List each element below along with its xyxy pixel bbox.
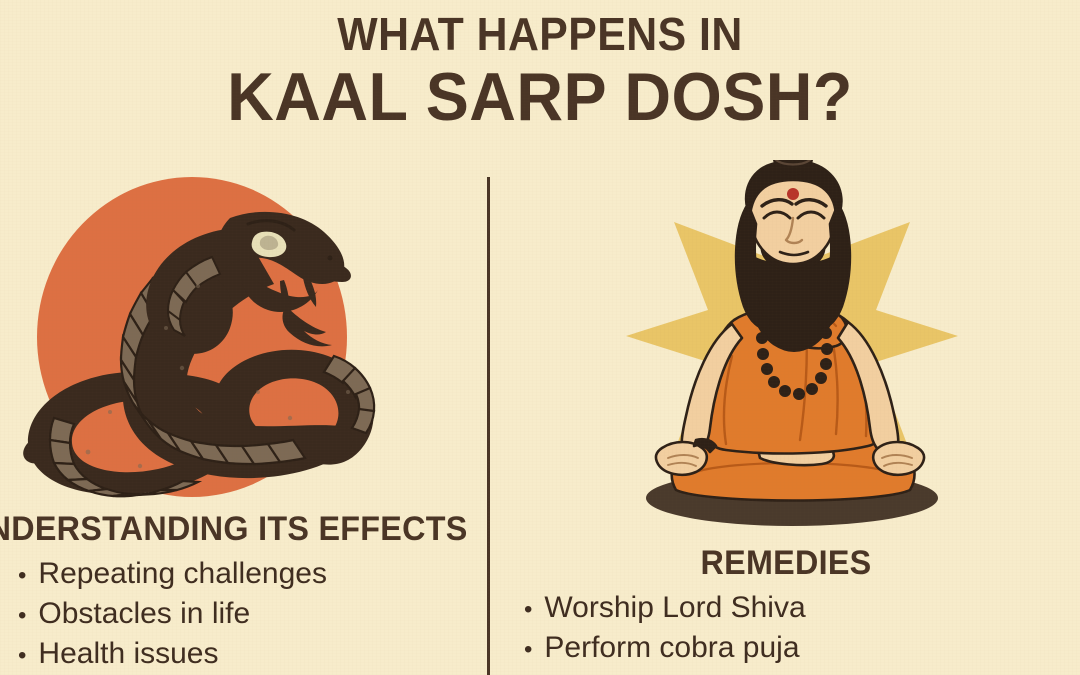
cobra-snake-illustration (0, 160, 410, 500)
remedies-heading: REMEDIES (507, 544, 1066, 583)
sage-bindi (787, 188, 799, 200)
list-item: • Repeating challenges (18, 555, 480, 595)
page-title: WHAT HAPPENS IN KAAL SARP DOSH? (0, 8, 1080, 134)
sage-right-hand (873, 442, 924, 475)
bullet-icon: • (524, 591, 532, 629)
sage-left-hand (656, 442, 707, 475)
list-item-label: Repeating challenges (38, 555, 327, 593)
right-panel: REMEDIES • Worship Lord Shiva • Perform … (492, 160, 1080, 669)
list-item: • Obstacles in life (18, 595, 480, 635)
list-item: • Health issues (18, 635, 480, 675)
bullet-icon: • (18, 557, 26, 595)
bullet-icon: • (524, 631, 532, 669)
list-item: • Worship Lord Shiva (524, 589, 1080, 629)
bullet-icon: • (18, 637, 26, 675)
remedies-list: • Worship Lord Shiva • Perform cobra puj… (524, 589, 1080, 669)
title-line-1: WHAT HAPPENS IN (38, 8, 1042, 60)
left-panel: UNDERSTANDING ITS EFFECTS • Repeating ch… (0, 160, 480, 675)
meditating-sage-illustration (622, 160, 962, 540)
effects-heading: UNDERSTANDING ITS EFFECTS (0, 510, 454, 549)
title-line-2: KAAL SARP DOSH? (27, 60, 1053, 134)
infographic-poster: WHAT HAPPENS IN KAAL SARP DOSH? (0, 0, 1080, 675)
effects-list: • Repeating challenges • Obstacles in li… (18, 555, 480, 675)
bullet-icon: • (18, 597, 26, 635)
vertical-divider (487, 177, 490, 675)
list-item-label: Health issues (38, 635, 218, 673)
list-item-label: Worship Lord Shiva (544, 589, 805, 627)
list-item-label: Obstacles in life (38, 595, 250, 633)
list-item-label: Perform cobra puja (544, 629, 799, 667)
list-item: • Perform cobra puja (524, 629, 1080, 669)
